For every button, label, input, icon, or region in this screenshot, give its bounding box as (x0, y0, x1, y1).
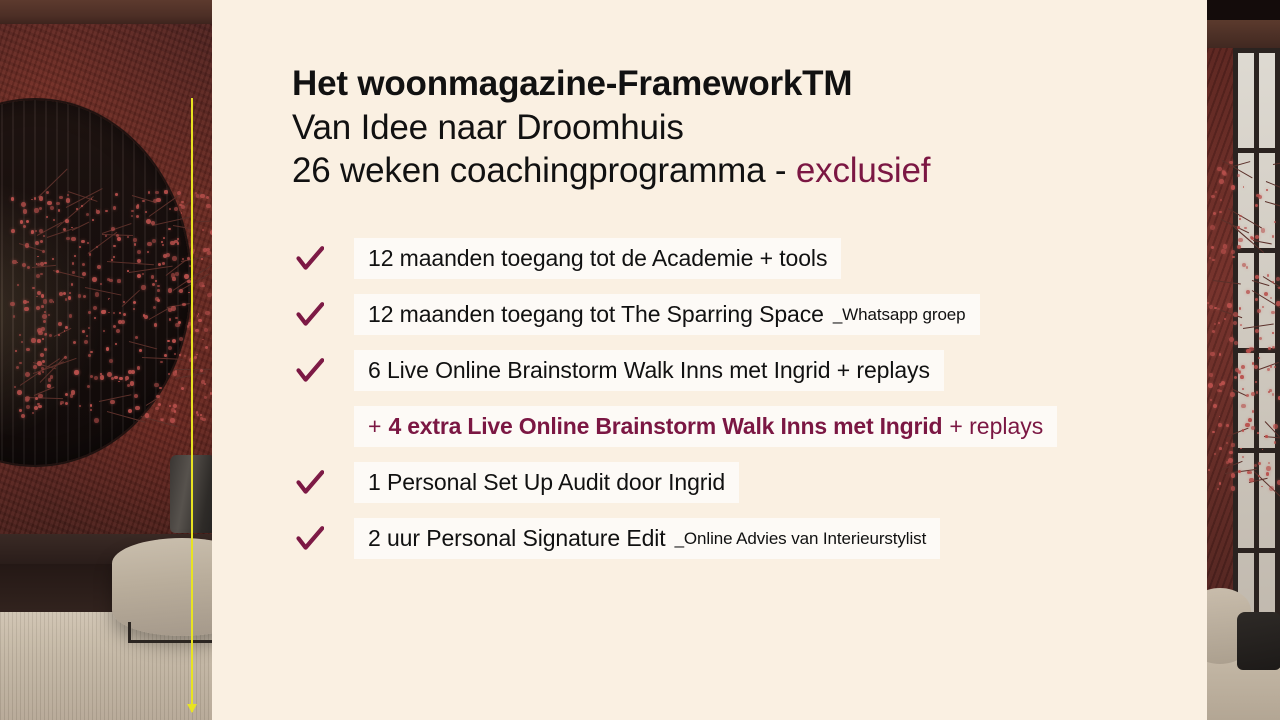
branch-twig (25, 397, 63, 399)
branch-twig (175, 373, 205, 380)
blossom (202, 418, 205, 421)
left-interior-photo (0, 0, 212, 720)
blossom (200, 194, 205, 199)
blossom (169, 405, 171, 407)
branch-twig (148, 193, 181, 217)
blossom (127, 270, 129, 272)
blossom (164, 190, 167, 193)
check-icon (296, 525, 324, 553)
blossom (66, 198, 70, 202)
blossom (1266, 472, 1270, 476)
blossom (163, 237, 165, 239)
list-item-label: 1 Personal Set Up Audit door Ingrid (368, 469, 725, 496)
blossom (1261, 486, 1263, 488)
blossom (202, 339, 204, 341)
blossom (198, 319, 201, 322)
blossom (1218, 423, 1222, 427)
blossom (81, 240, 84, 243)
blossom (133, 308, 135, 310)
blossom (168, 346, 172, 350)
blossom (83, 295, 86, 298)
blossom (43, 235, 45, 237)
blossom (204, 383, 206, 385)
blossom (137, 204, 139, 206)
branch-twig (129, 266, 173, 273)
blossom (204, 328, 208, 332)
blossom (110, 400, 115, 405)
branch-twig (99, 394, 132, 402)
blossom (17, 262, 19, 264)
blossom (1248, 418, 1252, 422)
list-item: +4 extra Live Online Brainstorm Walk Inn… (292, 406, 1192, 447)
blossom (146, 219, 151, 224)
blossom (196, 411, 198, 413)
blossom (1221, 249, 1226, 254)
blossom (135, 336, 138, 339)
blossom (117, 237, 121, 241)
blossom (1226, 424, 1229, 427)
blossom (1237, 174, 1240, 177)
branch-twig (66, 188, 103, 208)
blossom (174, 207, 178, 211)
blossom (118, 381, 120, 383)
blossom (1242, 388, 1244, 390)
blossom (90, 375, 93, 378)
blossom (119, 377, 123, 381)
blossom (1219, 179, 1224, 184)
blossom (48, 378, 51, 381)
blossom (135, 406, 140, 411)
blossom (1268, 462, 1270, 464)
blossom (1214, 453, 1216, 455)
blossom (1269, 389, 1272, 392)
right-dark-cushion (1237, 612, 1280, 670)
blossom (94, 418, 99, 423)
branch-twig (1226, 427, 1248, 436)
blossom (86, 335, 88, 337)
blossom (113, 312, 115, 314)
branch-twig (1253, 240, 1272, 245)
blossom (53, 219, 55, 221)
blossom (147, 251, 149, 253)
blossom (1231, 185, 1236, 190)
blossom (1239, 218, 1241, 220)
blossom (45, 333, 47, 335)
blossom (1252, 410, 1255, 413)
blossom (168, 228, 170, 230)
branch-twig (1252, 280, 1269, 286)
blossom (1266, 189, 1268, 191)
blossom (42, 360, 45, 363)
blossom (157, 289, 160, 292)
title-line-3-prefix: 26 weken coachingprogramma - (292, 151, 796, 190)
blossom (1239, 215, 1242, 218)
blossom (169, 318, 172, 321)
branch-twig (129, 341, 157, 349)
branch-twig (122, 290, 140, 307)
blossom (81, 205, 83, 207)
blossom (1256, 194, 1260, 198)
blossom (24, 307, 28, 311)
blossom (1233, 312, 1238, 317)
blossom (66, 237, 70, 241)
blossom (10, 302, 15, 307)
blossom (155, 407, 158, 410)
plus-sign: + (368, 413, 381, 440)
blossom (1267, 274, 1270, 277)
blossom (25, 243, 29, 247)
blossom (1207, 302, 1209, 304)
blossom (1245, 423, 1249, 427)
blossom (1219, 383, 1222, 386)
title-line-1: Het woonmagazine-FrameworkTM (292, 62, 1172, 106)
blossom (1261, 228, 1266, 233)
blossom (37, 256, 39, 258)
blossom (64, 356, 67, 359)
blossom (157, 285, 160, 288)
blossom (200, 414, 202, 416)
check-cell (292, 357, 354, 385)
blossom (1217, 308, 1220, 311)
blossom (72, 271, 75, 274)
branch-twig (1213, 280, 1241, 285)
blossom (1227, 303, 1232, 308)
blossom (58, 322, 62, 326)
blossom (13, 315, 15, 317)
blossom (170, 418, 174, 422)
blossom (125, 376, 129, 380)
check-icon (296, 245, 324, 273)
blossom (60, 401, 64, 405)
blossom (1219, 482, 1222, 485)
blossom (1231, 443, 1234, 446)
blossom (1276, 301, 1280, 305)
blossom (156, 395, 159, 398)
blossom (63, 292, 66, 295)
blossom (113, 206, 116, 209)
blossom (34, 197, 36, 199)
blossom (130, 381, 135, 386)
blossom (46, 191, 49, 194)
blossom (162, 262, 165, 265)
blossom (49, 299, 53, 303)
blossom (42, 371, 44, 373)
blossom (160, 418, 163, 421)
list-item-subnote: _Online Advies van Interieurstylist (675, 529, 927, 549)
blossom (181, 387, 184, 390)
blossom (52, 258, 54, 260)
blossom (1256, 391, 1259, 394)
blossom (17, 284, 19, 286)
blossom (65, 326, 68, 329)
blossom (174, 410, 176, 412)
blossom (1212, 330, 1215, 333)
blossom (139, 349, 142, 352)
blossom (42, 314, 47, 319)
blossom (202, 229, 205, 232)
blossom (1267, 368, 1269, 370)
blossom (109, 359, 113, 363)
blossom (182, 258, 184, 260)
blossom (141, 285, 145, 289)
blossom (1229, 451, 1232, 454)
blossom (90, 409, 92, 411)
blossom (152, 239, 156, 243)
blossom (1258, 462, 1261, 465)
blossom (127, 384, 130, 387)
blossom (36, 274, 40, 278)
blossom (1269, 486, 1274, 491)
blossom (38, 394, 42, 398)
blossom (1259, 337, 1262, 340)
blossom (205, 311, 209, 315)
blossom (142, 200, 144, 202)
blossom (101, 310, 105, 314)
blossom (1251, 392, 1255, 396)
blossom (154, 323, 158, 327)
blossom (44, 262, 47, 265)
blossom (58, 334, 60, 336)
list-item: 6 Live Online Brainstorm Walk Inns met I… (292, 350, 1192, 391)
blossom (1234, 341, 1238, 345)
blossom (49, 334, 53, 338)
blossom (1273, 424, 1278, 429)
blossom (1233, 321, 1237, 325)
content-area: Het woonmagazine-FrameworkTM Van Idee na… (212, 0, 1207, 720)
blossom (133, 238, 136, 241)
branch-twig (196, 220, 212, 222)
title-line-3-accent: exclusief (796, 151, 930, 190)
blossom (69, 314, 73, 318)
blossom (1226, 442, 1229, 445)
blossom (43, 320, 46, 323)
check-icon (296, 357, 324, 385)
blossom (68, 296, 72, 300)
branch-twig (54, 329, 71, 338)
yellow-guide-line (191, 98, 193, 712)
blossom (1215, 191, 1217, 193)
blossom (1217, 167, 1221, 171)
blossom (74, 370, 78, 374)
blossom (94, 376, 98, 380)
blossom (1274, 366, 1276, 368)
blossom (100, 283, 102, 285)
blossom (1219, 211, 1221, 213)
blossom (1247, 471, 1250, 474)
blossom (1231, 486, 1235, 490)
blossom (196, 194, 200, 198)
blossom (161, 241, 163, 243)
blossom (27, 266, 30, 269)
blossom (1257, 309, 1261, 313)
blossom (175, 272, 178, 275)
blossom (134, 394, 138, 398)
blossom (44, 348, 47, 351)
blossom (1212, 431, 1215, 434)
blossom (15, 350, 18, 353)
blossom (105, 210, 108, 213)
blossom (1246, 290, 1250, 294)
blossom (1270, 365, 1273, 368)
blossom (115, 193, 118, 196)
blossom (1226, 461, 1229, 464)
blossom (1242, 456, 1244, 458)
blossom (1254, 365, 1258, 369)
check-cell (292, 301, 354, 329)
blossom (96, 209, 98, 211)
title-line-2: Van Idee naar Droomhuis (292, 106, 1172, 149)
blossom (160, 361, 162, 363)
branch-twig (1243, 323, 1274, 329)
list-item-label: 12 maanden toegang tot The Sparring Spac… (368, 301, 824, 328)
blossom (1258, 475, 1260, 477)
blossom (123, 313, 126, 316)
blossom (87, 385, 90, 388)
blossom (37, 339, 41, 343)
page-title: Het woonmagazine-FrameworkTM Van Idee na… (292, 62, 1172, 192)
blossom (1244, 227, 1246, 229)
blossom (1232, 256, 1235, 259)
branch-twig (71, 221, 89, 230)
blossom (26, 348, 30, 352)
blossom (166, 253, 170, 257)
blossom (14, 386, 16, 388)
blossom (194, 356, 197, 359)
branch-twig (107, 411, 145, 423)
blossom (1230, 392, 1235, 397)
branch-twig (148, 308, 168, 320)
blossom (1272, 332, 1274, 334)
blossom (145, 413, 149, 417)
blossom (41, 305, 44, 308)
yellow-guide-arrowhead (187, 704, 197, 713)
blossom (131, 210, 134, 213)
list-item: 2 uur Personal Signature Edit_Online Adv… (292, 518, 1192, 559)
branch-twig (102, 223, 132, 234)
branch-twig (1273, 160, 1280, 164)
blossom (137, 250, 141, 254)
blossom (82, 263, 85, 266)
blossom (48, 314, 50, 316)
blossom (43, 299, 48, 304)
blossom (197, 315, 199, 317)
blossom (127, 236, 129, 238)
blossom (108, 312, 110, 314)
blossom (1219, 447, 1222, 450)
ottoman-base (128, 622, 212, 643)
blossom (181, 201, 184, 204)
blossom (155, 191, 158, 194)
blossom (96, 246, 99, 249)
blossom (86, 213, 89, 216)
blossom (1241, 365, 1245, 369)
check-icon (296, 469, 324, 497)
blossom (92, 219, 94, 221)
blossom (1209, 305, 1213, 309)
blossom (26, 220, 29, 223)
blossom (201, 258, 203, 260)
blossom (84, 340, 88, 344)
blossom (1231, 250, 1235, 254)
blossom (1255, 329, 1259, 333)
blossom (168, 288, 172, 292)
slide-root: Het woonmagazine-FrameworkTM Van Idee na… (0, 0, 1280, 720)
blossom (38, 331, 42, 335)
blossom (41, 294, 45, 298)
blossom (137, 366, 141, 370)
blossom (1237, 245, 1241, 249)
blossom (175, 317, 177, 319)
blossom (70, 394, 73, 397)
blossom (94, 317, 96, 319)
blossom (188, 292, 190, 294)
blossom (92, 277, 97, 282)
list-item-pill: +4 extra Live Online Brainstorm Walk Inn… (354, 406, 1057, 447)
blossom (65, 402, 68, 405)
blossom (19, 409, 21, 411)
blossom (1222, 170, 1225, 173)
blossom (17, 390, 22, 395)
blossom (90, 404, 93, 407)
blossom (23, 300, 27, 304)
blossom (90, 351, 92, 353)
blossom (23, 209, 28, 214)
blossom (172, 339, 176, 343)
blossom (11, 197, 14, 200)
blossom (1218, 322, 1220, 324)
blossom (137, 274, 141, 278)
blossom (179, 354, 181, 356)
blossom (1240, 448, 1242, 450)
blossom (1262, 449, 1264, 451)
blossom (136, 215, 139, 218)
blossom (42, 250, 45, 253)
blossom (178, 321, 181, 324)
blossom (148, 191, 151, 194)
blossom (131, 215, 133, 217)
list-item-pill: 12 maanden toegang tot The Sparring Spac… (354, 294, 980, 335)
list-item-pill: 12 maanden toegang tot de Academie + too… (354, 238, 841, 279)
blossom (26, 405, 30, 409)
list-item: 12 maanden toegang tot de Academie + too… (292, 238, 1192, 279)
blossom (97, 265, 101, 269)
blossom (1246, 394, 1249, 397)
blossom (47, 201, 51, 205)
list-item-emphasis: 4 extra Live Online Brainstorm Walk Inns… (388, 413, 942, 440)
blossom (79, 246, 81, 248)
blossom (25, 372, 30, 377)
blossom (19, 362, 21, 364)
blossom (113, 256, 115, 258)
blossom (32, 412, 34, 414)
blossom (1234, 376, 1237, 379)
blossom (137, 259, 141, 263)
blossom (206, 196, 209, 199)
blossom (65, 393, 68, 396)
list-item-label: 2 uur Personal Signature Edit (368, 525, 666, 552)
blossom (19, 334, 21, 336)
blossom (31, 230, 34, 233)
branch-twig (38, 169, 68, 199)
title-line-3: 26 weken coachingprogramma - exclusief (292, 149, 1172, 192)
blossom (1217, 488, 1219, 490)
blossom (168, 308, 172, 312)
blossom (31, 199, 33, 201)
blossom (172, 256, 177, 261)
blossom (1209, 373, 1213, 377)
blossom (44, 311, 46, 313)
blossom (158, 263, 161, 266)
